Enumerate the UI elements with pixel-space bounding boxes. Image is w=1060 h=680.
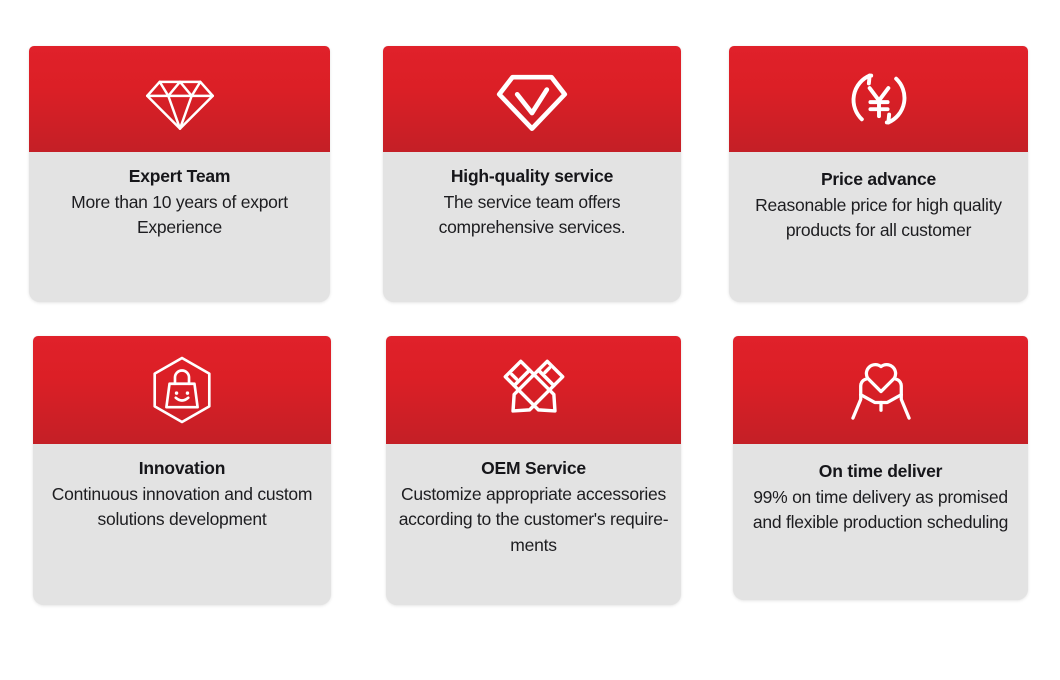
card-header xyxy=(729,46,1028,152)
card-title: On time deliver xyxy=(745,461,1016,483)
card-header xyxy=(383,46,681,152)
card-body: Innovation Continuous innovation and cus… xyxy=(33,444,331,605)
feature-card-on-time-deliver[interactable]: On time deliver 99% on time delivery as … xyxy=(733,336,1028,600)
hexagon-shopping-bag-icon xyxy=(143,351,221,429)
shield-check-icon xyxy=(493,60,571,138)
card-body: Price advance Reasonable price for high … xyxy=(729,152,1028,302)
card-title: OEM Service xyxy=(398,458,669,480)
card-description: 99% on time delivery as promised and fle… xyxy=(745,485,1016,536)
card-header xyxy=(33,336,331,444)
feature-cards-grid: Expert Team More than 10 years of export… xyxy=(0,0,1060,680)
card-description: More than 10 years of export Experience xyxy=(41,190,318,241)
card-description: The service team offers comprehensive se… xyxy=(395,190,669,241)
feature-card-high-quality-service[interactable]: High-quality service The service team of… xyxy=(383,46,681,302)
card-title: High-quality service xyxy=(395,166,669,188)
card-body: High-quality service The service team of… xyxy=(383,152,681,302)
feature-card-expert-team[interactable]: Expert Team More than 10 years of export… xyxy=(29,46,330,302)
card-description: Reasonable price for high quality produc… xyxy=(741,193,1016,244)
card-header xyxy=(29,46,330,152)
card-description: Customize appropriate accessories accord… xyxy=(398,482,669,558)
card-header xyxy=(733,336,1028,444)
card-description: Continuous innovation and custom solutio… xyxy=(45,482,319,533)
hands-holding-heart-icon xyxy=(842,351,920,429)
diamond-gem-icon xyxy=(141,60,219,138)
card-title: Price advance xyxy=(741,169,1016,191)
card-header xyxy=(386,336,681,444)
feature-card-price-advance[interactable]: Price advance Reasonable price for high … xyxy=(729,46,1028,302)
crossed-pencils-icon xyxy=(495,351,573,429)
feature-card-innovation[interactable]: Innovation Continuous innovation and cus… xyxy=(33,336,331,605)
card-body: On time deliver 99% on time delivery as … xyxy=(733,444,1028,600)
feature-card-oem-service[interactable]: OEM Service Customize appropriate access… xyxy=(386,336,681,605)
card-title: Innovation xyxy=(45,458,319,480)
yen-refresh-icon xyxy=(840,60,918,138)
card-body: OEM Service Customize appropriate access… xyxy=(386,444,681,605)
card-title: Expert Team xyxy=(41,166,318,188)
card-body: Expert Team More than 10 years of export… xyxy=(29,152,330,302)
